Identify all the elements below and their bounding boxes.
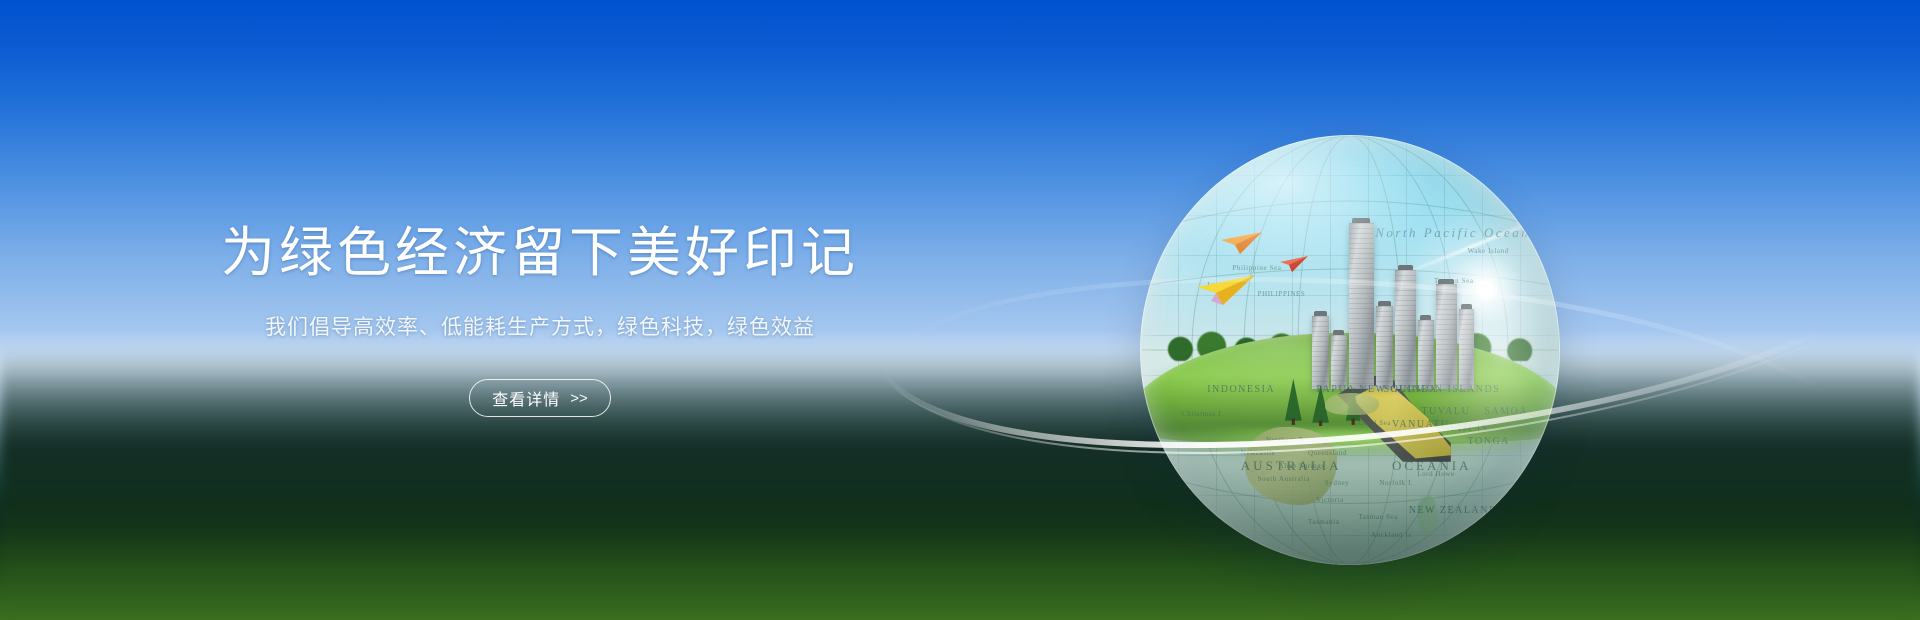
hero-subtitle: 我们倡导高效率、低能耗生产方式，绿色科技，绿色效益 xyxy=(265,312,815,344)
paper-plane-orange-icon xyxy=(1220,230,1264,256)
page-title: 为绿色经济留下美好印记 xyxy=(221,221,859,286)
view-details-button[interactable]: 查看详情 >> xyxy=(469,379,611,417)
globe-sphere: North Pacific Ocean Wake Island Tasman S… xyxy=(1140,135,1560,565)
globe-illustration: North Pacific Ocean Wake Island Tasman S… xyxy=(1140,135,1560,565)
paper-plane-red-icon xyxy=(1279,255,1309,273)
landmass-new-guinea xyxy=(1325,393,1380,415)
hero-copy: 为绿色经济留下美好印记 我们倡导高效率、低能耗生产方式，绿色科技，绿色效益 查看… xyxy=(0,0,1080,620)
landmass-new-zealand xyxy=(1417,496,1438,535)
paper-plane-yellow-icon xyxy=(1195,273,1257,307)
conifer-trees xyxy=(1266,359,1392,428)
hero-banner: North Pacific Ocean Wake Island Tasman S… xyxy=(0,0,1920,620)
view-details-label: 查看详情 xyxy=(492,386,560,410)
chevron-right-icon: >> xyxy=(570,390,588,407)
hill-glow xyxy=(1140,427,1560,457)
